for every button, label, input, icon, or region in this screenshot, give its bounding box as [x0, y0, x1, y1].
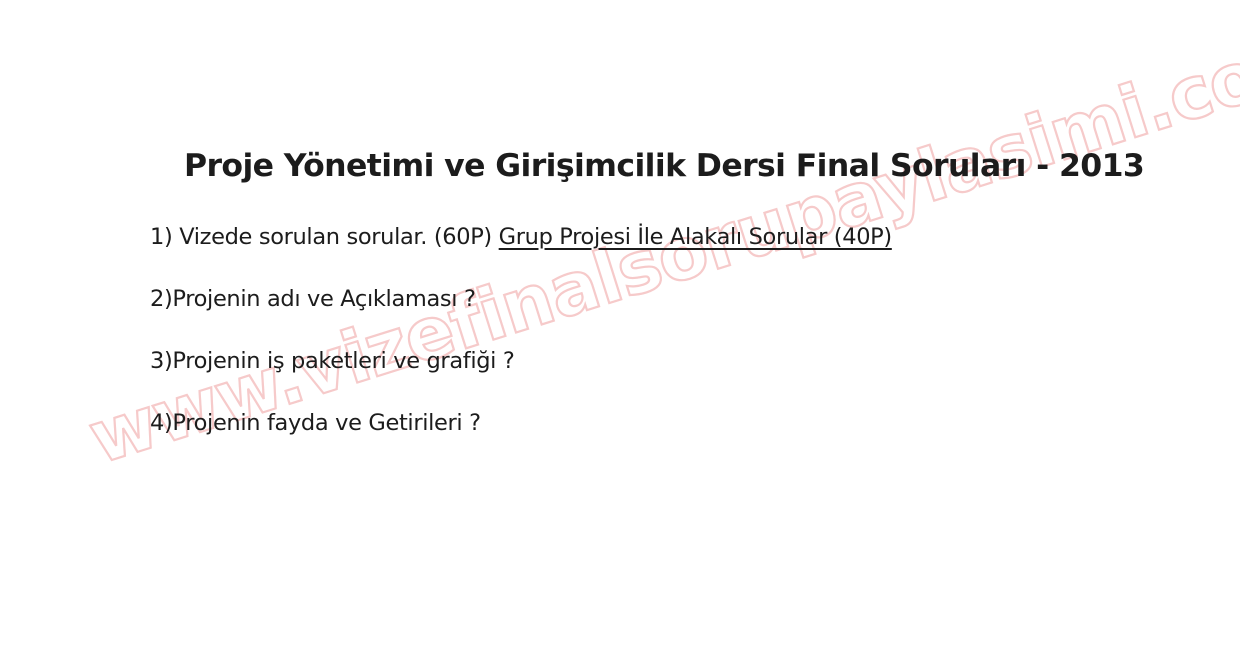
document-content: Proje Yönetimi ve Girişimcilik Dersi Fin… [0, 0, 1240, 668]
question-3-text: 3)Projenin iş paketleri ve grafiği ? [150, 348, 514, 374]
question-line-3: 3)Projenin iş paketleri ve grafiği ? [150, 348, 514, 374]
question-1-text: 1) Vizede sorulan sorular. (60P) [150, 224, 499, 250]
question-line-2: 2)Projenin adı ve Açıklaması ? [150, 286, 476, 312]
question-line-4: 4)Projenin fayda ve Getirileri ? [150, 410, 481, 436]
question-1-underlined-text: Grup Projesi İle Alakalı Sorular (40P) [499, 224, 892, 250]
page-title: Proje Yönetimi ve Girişimcilik Dersi Fin… [184, 148, 1144, 184]
question-line-1: 1) Vizede sorulan sorular. (60P) Grup Pr… [150, 224, 892, 250]
question-4-text: 4)Projenin fayda ve Getirileri ? [150, 410, 481, 436]
question-2-text: 2)Projenin adı ve Açıklaması ? [150, 286, 476, 312]
slide-canvas: www.vizefinalsorupaylasimi.com Proje Yön… [0, 0, 1240, 668]
